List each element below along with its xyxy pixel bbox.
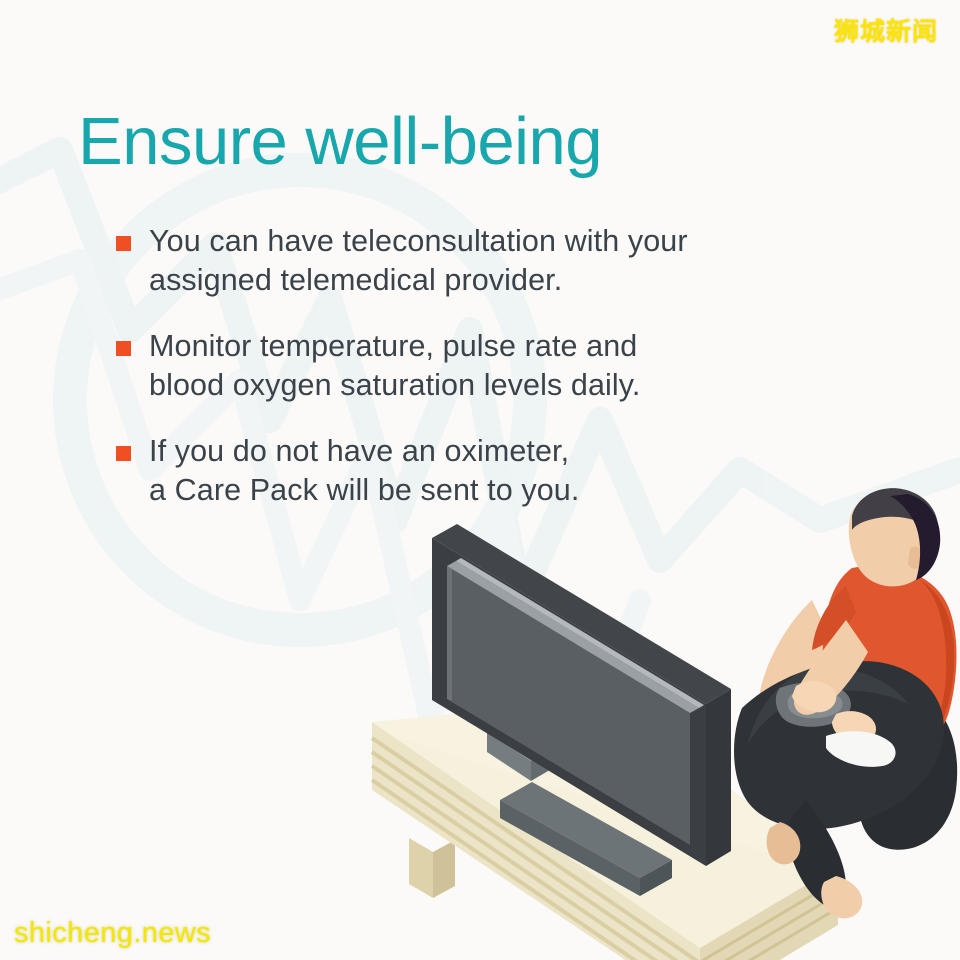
bullet-square-icon: [116, 341, 131, 356]
list-item-label: You can have teleconsultation with your …: [149, 222, 688, 300]
game-controller-icon: [776, 682, 851, 727]
list-item: Monitor temperature, pulse rate and bloo…: [116, 327, 806, 405]
page-title: Ensure well-being: [78, 108, 602, 175]
bullet-list: You can have teleconsultation with your …: [116, 222, 806, 537]
television-illustration: [432, 524, 731, 866]
list-item: You can have teleconsultation with your …: [116, 222, 806, 300]
tv-stand-neck: [487, 716, 672, 896]
bullet-square-icon: [116, 236, 131, 251]
bullet-square-icon: [116, 446, 131, 461]
list-item-label: If you do not have an oximeter, a Care P…: [149, 432, 579, 510]
watermark-bottom-left: shicheng.news: [14, 917, 211, 950]
list-item: If you do not have an oximeter, a Care P…: [116, 432, 806, 510]
tv-stand-illustration: [372, 700, 838, 960]
poster-canvas: Ensure well-being You can have teleconsu…: [0, 0, 960, 960]
watermark-top-right: 狮城新闻: [834, 12, 938, 48]
list-item-label: Monitor temperature, pulse rate and bloo…: [149, 327, 640, 405]
person-illustration: [734, 488, 957, 918]
